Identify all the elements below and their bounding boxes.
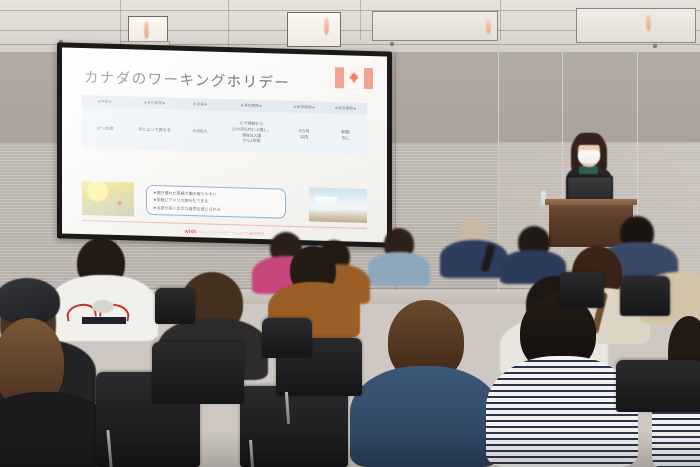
bull-graphic-shirt — [66, 300, 138, 328]
audience-shoulders-back-1 — [368, 252, 430, 286]
audience — [0, 0, 700, 467]
audience-shoulders-back-2 — [440, 240, 508, 278]
chair-6[interactable] — [262, 318, 312, 358]
chair-5[interactable] — [616, 360, 700, 412]
chair-3[interactable] — [152, 342, 244, 404]
chair-9[interactable] — [560, 272, 604, 308]
chair-7[interactable] — [155, 288, 195, 324]
chair-8[interactable] — [620, 276, 670, 316]
foreground-shadow — [0, 430, 700, 467]
seminar-room-photo: カナダのワーキングホリデー ★年齢★ ★受付期間★ ★定員★ ★滞在期間★ ★就… — [0, 0, 700, 467]
